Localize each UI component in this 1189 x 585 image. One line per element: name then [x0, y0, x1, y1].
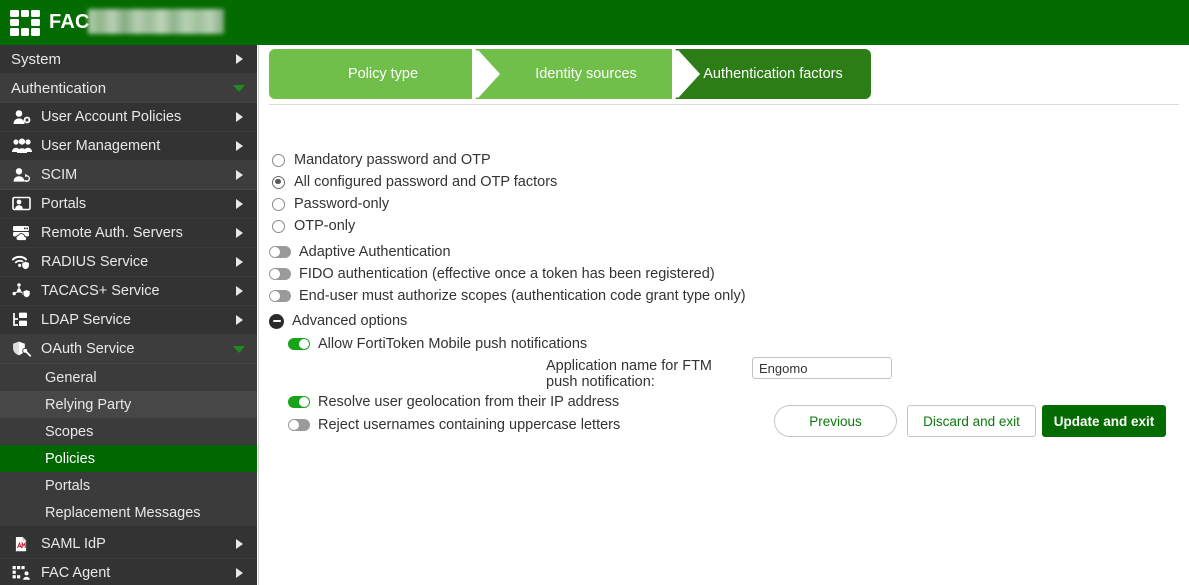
wizard-step-policy-type[interactable]: Policy type: [269, 49, 497, 99]
user-wrench-icon: [11, 108, 33, 126]
radio-label: Mandatory password and OTP: [294, 152, 491, 168]
sidebar-item-label: Portals: [41, 196, 236, 212]
main-content: Policy type Identity sources Authenticat…: [258, 45, 1189, 585]
top-bar: FAC: [0, 0, 1189, 45]
chevron-right-icon: [236, 141, 243, 151]
toggle-switch[interactable]: [269, 246, 291, 258]
sidebar-item-label: SCIM: [41, 167, 236, 183]
toggle-row-adaptive-authentication[interactable]: Adaptive Authentication: [269, 244, 451, 260]
users-group-icon: [11, 137, 33, 155]
wizard-step-label: Authentication factors: [703, 66, 842, 82]
saml-document-icon: [11, 535, 33, 553]
user-screen-icon: [11, 195, 33, 213]
sidebar-subitem-label: Relying Party: [45, 397, 257, 413]
grid-squares-logo-icon: [10, 10, 40, 36]
sidebar-subitem-relying-party[interactable]: Relying Party: [0, 391, 257, 418]
oauth-shield-key-icon: [11, 340, 33, 358]
chevron-right-icon: [236, 286, 243, 296]
chevron-down-icon: [233, 85, 245, 92]
redacted-brand-suffix: [88, 9, 224, 34]
radius-shield-icon: [11, 253, 33, 271]
toggle-switch[interactable]: [269, 290, 291, 302]
sidebar-subitem-policies[interactable]: Policies: [0, 445, 257, 472]
user-sync-icon: [11, 166, 33, 184]
toggle-label: End-user must authorize scopes (authenti…: [299, 288, 746, 304]
sidebar-subitem-label: Replacement Messages: [45, 505, 257, 521]
chevron-right-icon: [236, 568, 243, 578]
sidebar-item-tacacs-service[interactable]: TACACS+ Service: [0, 277, 257, 306]
sidebar-item-user-management[interactable]: User Management: [0, 132, 257, 161]
sidebar-item-label: Authentication: [11, 80, 233, 97]
wizard-step-authentication-factors[interactable]: Authentication factors: [675, 49, 871, 99]
sidebar-item-saml-idp[interactable]: SAML IdP: [0, 530, 257, 559]
ldap-folder-icon: [11, 311, 33, 329]
sidebar-item-system[interactable]: System: [0, 45, 257, 74]
sidebar-item-label: User Management: [41, 138, 236, 154]
sidebar-subitem-portals[interactable]: Portals: [0, 472, 257, 499]
previous-button[interactable]: Previous: [774, 405, 897, 437]
radio-icon[interactable]: [272, 198, 285, 211]
ftm-app-name-input[interactable]: [752, 357, 892, 379]
brand-text: FAC: [49, 11, 90, 34]
chevron-down-icon: [233, 346, 245, 353]
sidebar-subitem-label: Portals: [45, 478, 257, 494]
sidebar-item-label: Remote Auth. Servers: [41, 225, 236, 241]
wizard-step-label: Policy type: [348, 66, 418, 82]
sidebar-item-label: LDAP Service: [41, 312, 236, 328]
sidebar-item-label: User Account Policies: [41, 109, 236, 125]
sidebar-subitem-scopes[interactable]: Scopes: [0, 418, 257, 445]
radio-label: Password-only: [294, 196, 389, 212]
toggle-label: Resolve user geolocation from their IP a…: [318, 394, 619, 410]
chevron-right-icon: [236, 170, 243, 180]
chevron-right-icon: [236, 539, 243, 549]
chevron-right-icon: [236, 54, 243, 64]
sidebar-item-ldap-service[interactable]: LDAP Service: [0, 306, 257, 335]
advanced-options-header[interactable]: Advanced options: [269, 313, 407, 329]
radio-option-otp-only[interactable]: OTP-only: [272, 218, 355, 234]
sidebar-item-label: FAC Agent: [41, 565, 236, 581]
radio-icon[interactable]: [272, 154, 285, 167]
radio-icon[interactable]: [272, 220, 285, 233]
sidebar-subitem-label: Policies: [45, 451, 257, 467]
chevron-right-icon: [236, 112, 243, 122]
toggle-label: Allow FortiToken Mobile push notificatio…: [318, 336, 587, 352]
ftm-app-name-label: Application name for FTM push notificati…: [546, 358, 746, 390]
chevron-right-icon: [236, 315, 243, 325]
sidebar-subitem-label: General: [45, 370, 257, 386]
wizard-step-identity-sources[interactable]: Identity sources: [475, 49, 697, 99]
radio-option-password-only[interactable]: Password-only: [272, 196, 389, 212]
sidebar-item-fac-agent[interactable]: FAC Agent: [0, 559, 257, 585]
update-and-exit-button[interactable]: Update and exit: [1042, 405, 1166, 437]
chevron-right-icon: [236, 257, 243, 267]
sidebar-item-label: TACACS+ Service: [41, 283, 236, 299]
toggle-row-end-user-authorize-scopes[interactable]: End-user must authorize scopes (authenti…: [269, 288, 746, 304]
toggle-label: Adaptive Authentication: [299, 244, 451, 260]
collapse-minus-icon[interactable]: [269, 314, 284, 329]
sidebar-item-label: System: [11, 51, 236, 68]
toggle-row-allow-fortitoken-push[interactable]: Allow FortiToken Mobile push notificatio…: [288, 336, 587, 352]
toggle-row-reject-uppercase-usernames[interactable]: Reject usernames containing uppercase le…: [288, 417, 620, 433]
sidebar-subitem-replacement-messages[interactable]: Replacement Messages: [0, 499, 257, 526]
sidebar-item-label: SAML IdP: [41, 536, 236, 552]
sidebar-item-remote-auth-servers[interactable]: Remote Auth. Servers: [0, 219, 257, 248]
toggle-switch[interactable]: [269, 268, 291, 280]
sidebar-item-authentication[interactable]: Authentication: [0, 74, 257, 103]
radio-label: OTP-only: [294, 218, 355, 234]
radio-icon[interactable]: [272, 176, 285, 189]
server-cloud-icon: [11, 224, 33, 242]
toggle-row-fido-authentication[interactable]: FIDO authentication (effective once a to…: [269, 266, 715, 282]
sidebar-item-label: RADIUS Service: [41, 254, 236, 270]
sidebar-item-portals[interactable]: Portals: [0, 190, 257, 219]
content-divider: [269, 104, 1179, 105]
sidebar-item-scim[interactable]: SCIM: [0, 161, 257, 190]
toggle-switch[interactable]: [288, 338, 310, 350]
sidebar-item-label: OAuth Service: [41, 341, 233, 357]
wizard-step-label: Identity sources: [535, 66, 637, 82]
sidebar-item-oauth-service[interactable]: OAuth Service: [0, 335, 257, 364]
chevron-right-icon: [236, 228, 243, 238]
sidebar-subitem-general[interactable]: General: [0, 364, 257, 391]
chevron-right-icon: [236, 199, 243, 209]
sidebar-item-user-account-policies[interactable]: User Account Policies: [0, 103, 257, 132]
sidebar-subitem-label: Scopes: [45, 424, 257, 440]
fac-agent-icon: [11, 564, 33, 582]
advanced-options-label: Advanced options: [292, 313, 407, 329]
sidebar-item-radius-service[interactable]: RADIUS Service: [0, 248, 257, 277]
wizard-step-bar: Policy type Identity sources Authenticat…: [269, 49, 871, 99]
toggle-label: FIDO authentication (effective once a to…: [299, 266, 715, 282]
toggle-switch[interactable]: [288, 419, 310, 431]
discard-and-exit-button[interactable]: Discard and exit: [907, 405, 1036, 437]
tacacs-shield-icon: [11, 282, 33, 300]
radio-option-mandatory-password-otp[interactable]: Mandatory password and OTP: [272, 152, 491, 168]
toggle-label: Reject usernames containing uppercase le…: [318, 417, 620, 433]
toggle-switch[interactable]: [288, 396, 310, 408]
sidebar-nav[interactable]: System Authentication User Account Polic…: [0, 45, 257, 585]
radio-label: All configured password and OTP factors: [294, 174, 557, 190]
radio-option-all-configured-factors[interactable]: All configured password and OTP factors: [272, 174, 557, 190]
toggle-row-resolve-geolocation[interactable]: Resolve user geolocation from their IP a…: [288, 394, 619, 410]
